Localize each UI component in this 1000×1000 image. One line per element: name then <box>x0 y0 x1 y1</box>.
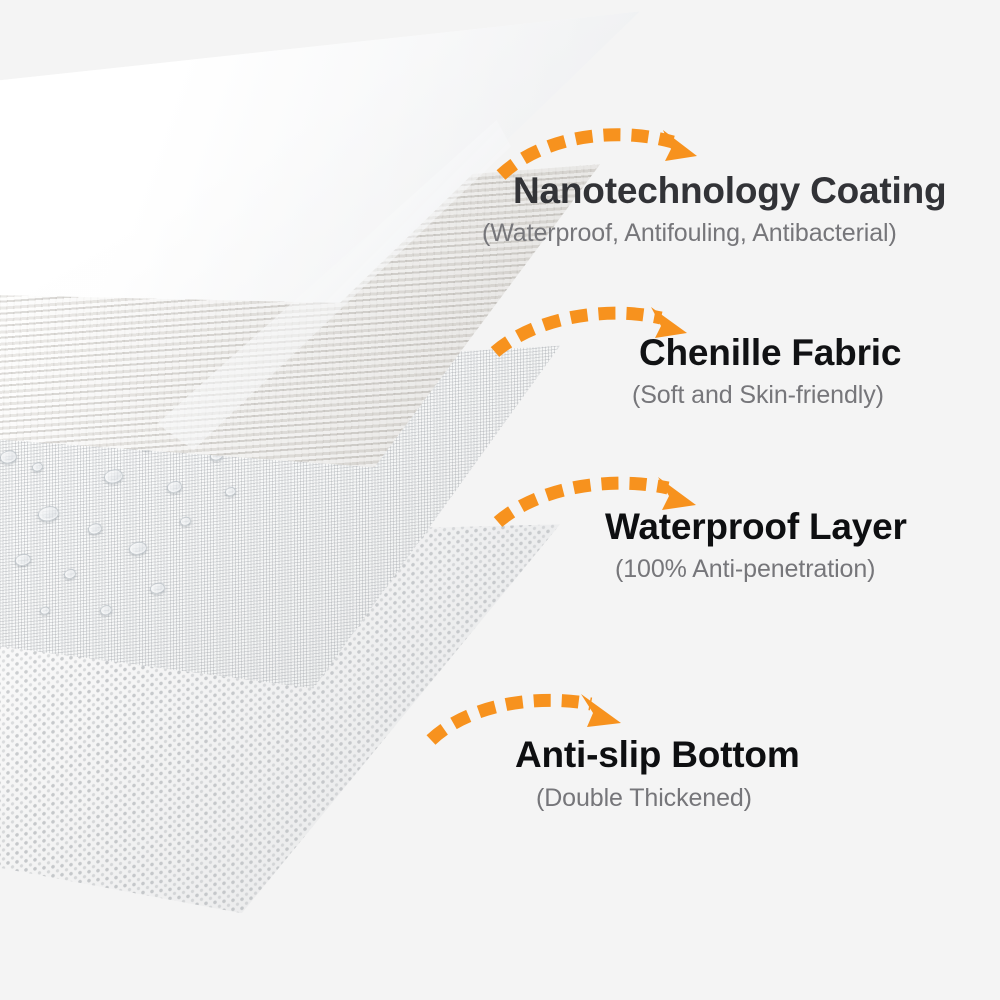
callout-subtitle: (Waterproof, Antifouling, Antibacterial) <box>482 219 897 248</box>
product-feature-infographic: Nanotechnology Coating (Waterproof, Anti… <box>0 0 1000 1000</box>
callout-title: Anti-slip Bottom <box>515 734 800 776</box>
callout-title: Waterproof Layer <box>605 506 907 548</box>
callout-title: Nanotechnology Coating <box>513 170 946 212</box>
callout-subtitle: (Double Thickened) <box>536 784 752 813</box>
callout-title: Chenille Fabric <box>639 332 901 374</box>
callout-subtitle: (100% Anti-penetration) <box>615 555 875 584</box>
callout-subtitle: (Soft and Skin-friendly) <box>632 381 884 410</box>
